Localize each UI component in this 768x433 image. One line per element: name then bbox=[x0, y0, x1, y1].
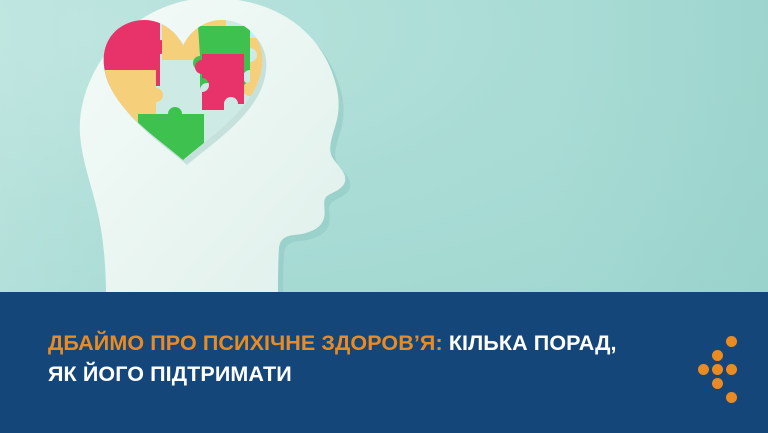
puzzle-pieces bbox=[98, 14, 268, 166]
page-title: ДБАЙМО ПРО ПСИХІЧНЕ ЗДОРОВ’Я: КІЛЬКА ПОР… bbox=[48, 328, 648, 390]
article-hero-banner: ДБАЙМО ПРО ПСИХІЧНЕ ЗДОРОВ’Я: КІЛЬКА ПОР… bbox=[0, 0, 768, 433]
dot-6 bbox=[712, 378, 723, 389]
title-band: ДБАЙМО ПРО ПСИХІЧНЕ ЗДОРОВ’Я: КІЛЬКА ПОР… bbox=[0, 292, 768, 433]
dot-5 bbox=[726, 364, 737, 375]
orange-dot-arrow-icon bbox=[696, 336, 752, 396]
dot-7 bbox=[726, 392, 737, 403]
puzzle-heart-icon bbox=[98, 14, 268, 166]
dot-2 bbox=[712, 350, 723, 361]
page-title-accent: ДБАЙМО ПРО ПСИХІЧНЕ ЗДОРОВ’Я: bbox=[48, 331, 443, 355]
dot-1 bbox=[726, 336, 737, 347]
dot-4 bbox=[712, 364, 723, 375]
dot-3 bbox=[698, 364, 709, 375]
hero-image bbox=[0, 0, 768, 292]
